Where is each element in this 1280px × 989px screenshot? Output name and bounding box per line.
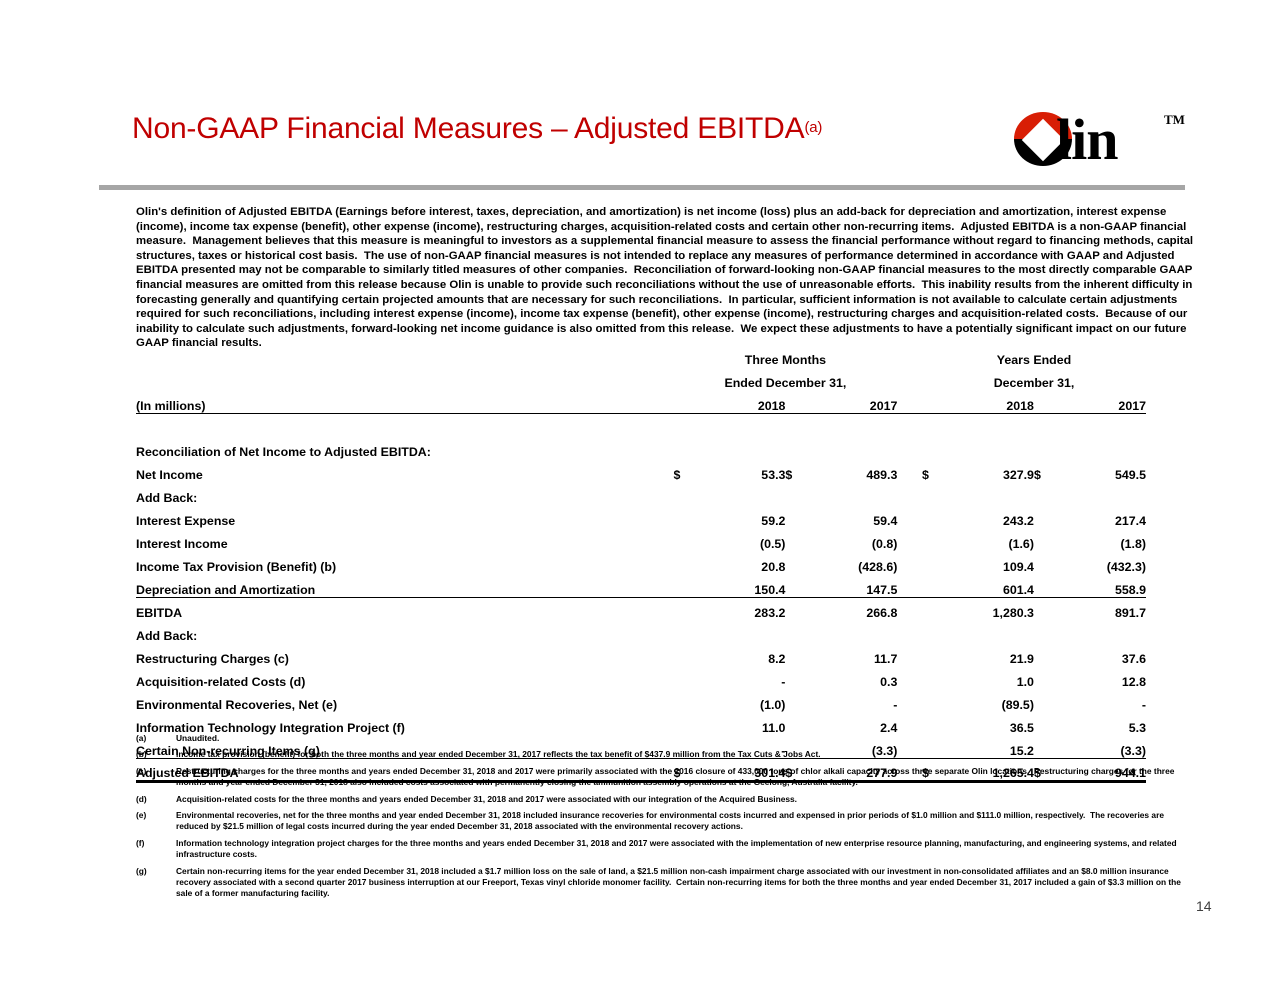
spacer-cell	[136, 413, 1146, 436]
row-value: 109.4	[947, 551, 1034, 574]
currency-symbol	[922, 620, 947, 643]
row-value: (432.3)	[1059, 551, 1146, 574]
column-gap	[897, 712, 922, 735]
row-value: 2.4	[810, 712, 897, 735]
column-gap	[897, 689, 922, 712]
currency-symbol	[673, 712, 698, 735]
row-value: (89.5)	[947, 689, 1034, 712]
footnote-item: (a)Unaudited.	[136, 733, 1196, 744]
footnote-marker: (g)	[136, 866, 176, 900]
header-gap-3	[897, 390, 922, 413]
row-value: 12.8	[1059, 666, 1146, 689]
footnote-item: (b)Income tax provision (benefit) for bo…	[136, 749, 1196, 760]
table-row: Environmental Recoveries, Net (e)(1.0)-(…	[136, 689, 1146, 712]
row-value: 243.2	[947, 505, 1034, 528]
olin-logo: lin TM	[1014, 108, 1194, 170]
header-cur-1	[673, 390, 698, 413]
currency-symbol	[1034, 482, 1059, 505]
table-spacer-row	[136, 413, 1146, 436]
header-divider	[99, 185, 1185, 190]
currency-symbol	[785, 643, 810, 666]
row-value: 11.0	[698, 712, 785, 735]
page-number: 14	[1196, 898, 1212, 914]
row-value: 1.0	[947, 666, 1034, 689]
row-value: 891.7	[1059, 597, 1146, 620]
row-value: (1.8)	[1059, 528, 1146, 551]
column-gap	[897, 666, 922, 689]
footnote-text: Income tax provision (benefit) for both …	[176, 749, 1196, 760]
table-row: Restructuring Charges (c)8.211.721.937.6	[136, 643, 1146, 666]
header-cur-4	[1034, 390, 1059, 413]
row-value: 59.4	[810, 505, 897, 528]
currency-symbol	[1034, 666, 1059, 689]
row-value: 59.2	[698, 505, 785, 528]
table-row: Information Technology Integration Proje…	[136, 712, 1146, 735]
header-cur-3	[922, 390, 947, 413]
table-row: Acquisition-related Costs (d)-0.31.012.8	[136, 666, 1146, 689]
row-label: EBITDA	[136, 597, 673, 620]
currency-symbol	[1034, 528, 1059, 551]
footnote-text: Unaudited.	[176, 733, 1196, 744]
adjusted-ebitda-table: Three Months Years Ended Ended December …	[136, 344, 1146, 783]
page-title: Non-GAAP Financial Measures – Adjusted E…	[132, 112, 822, 146]
currency-symbol	[673, 643, 698, 666]
currency-symbol	[785, 482, 810, 505]
currency-symbol	[1034, 620, 1059, 643]
table-section-title-row: Reconciliation of Net Income to Adjusted…	[136, 436, 1146, 459]
row-value: 601.4	[947, 574, 1034, 597]
row-value: (1.6)	[947, 528, 1034, 551]
currency-symbol	[673, 505, 698, 528]
column-header-year-y-2017: 2017	[1059, 390, 1146, 413]
currency-symbol	[785, 528, 810, 551]
table-header-years: (In millions) 2018 2017 2018 2017	[136, 390, 1146, 413]
column-gap	[897, 620, 922, 643]
row-value: -	[810, 689, 897, 712]
footnote-item: (c)Restructuring charges for the three m…	[136, 766, 1196, 789]
footnote-marker: (a)	[136, 733, 176, 744]
row-label: Interest Expense	[136, 505, 673, 528]
row-value: 283.2	[698, 597, 785, 620]
row-value	[698, 620, 785, 643]
header-gap-1	[897, 344, 922, 367]
row-value: (0.8)	[810, 528, 897, 551]
row-value: 37.6	[1059, 643, 1146, 666]
currency-symbol: $	[922, 459, 947, 482]
column-gap	[897, 643, 922, 666]
footnote-text: Environmental recoveries, net for the th…	[176, 810, 1196, 833]
units-label: (In millions)	[136, 390, 673, 413]
footnote-marker: (b)	[136, 749, 176, 760]
currency-symbol	[922, 551, 947, 574]
row-value: 266.8	[810, 597, 897, 620]
row-value: 36.5	[947, 712, 1034, 735]
row-value	[698, 482, 785, 505]
table-head: Three Months Years Ended Ended December …	[136, 344, 1146, 413]
currency-symbol	[922, 574, 947, 597]
header-blank-1	[136, 344, 673, 367]
footnote-marker: (c)	[136, 766, 176, 789]
currency-symbol	[922, 482, 947, 505]
currency-symbol	[922, 643, 947, 666]
header-blank-2	[136, 367, 673, 390]
column-gap	[897, 528, 922, 551]
column-gap	[897, 459, 922, 482]
header-group-years-ended-line1: Years Ended	[922, 344, 1146, 367]
row-value: (428.6)	[810, 551, 897, 574]
header-group-three-months-line1: Three Months	[673, 344, 897, 367]
column-gap	[897, 482, 922, 505]
currency-symbol	[785, 666, 810, 689]
column-gap	[897, 551, 922, 574]
currency-symbol	[673, 620, 698, 643]
row-value	[947, 620, 1034, 643]
row-value: 549.5	[1059, 459, 1146, 482]
header-group-three-months-line2: Ended December 31,	[673, 367, 897, 390]
header-cur-2	[785, 390, 810, 413]
footnote-item: (f)Information technology integration pr…	[136, 838, 1196, 861]
currency-symbol	[1034, 597, 1059, 620]
row-label: Add Back:	[136, 620, 673, 643]
row-value: (1.0)	[698, 689, 785, 712]
row-value: 11.7	[810, 643, 897, 666]
row-value: 0.3	[810, 666, 897, 689]
table-row: Interest Income(0.5)(0.8)(1.6)(1.8)	[136, 528, 1146, 551]
column-gap	[897, 505, 922, 528]
footnote-marker: (e)	[136, 810, 176, 833]
row-label: Restructuring Charges (c)	[136, 643, 673, 666]
intro-paragraph: Olin's definition of Adjusted EBITDA (Ea…	[136, 205, 1196, 351]
row-value: 150.4	[698, 574, 785, 597]
currency-symbol	[922, 666, 947, 689]
currency-symbol	[785, 689, 810, 712]
row-value: 20.8	[698, 551, 785, 574]
currency-symbol	[673, 551, 698, 574]
column-gap	[897, 574, 922, 597]
row-value	[1059, 482, 1146, 505]
currency-symbol	[673, 482, 698, 505]
row-value: 147.5	[810, 574, 897, 597]
currency-symbol	[922, 528, 947, 551]
table-row: EBITDA283.2266.81,280.3891.7	[136, 597, 1146, 620]
row-label: Net Income	[136, 459, 673, 482]
currency-symbol	[1034, 712, 1059, 735]
table-header-group-line1: Three Months Years Ended	[136, 344, 1146, 367]
footnote-marker: (d)	[136, 794, 176, 805]
currency-symbol: $	[673, 459, 698, 482]
row-value: 327.9	[947, 459, 1034, 482]
footnote-text: Acquisition-related costs for the three …	[176, 794, 1196, 805]
footnote-item: (g)Certain non-recurring items for the y…	[136, 866, 1196, 900]
table-row: Depreciation and Amortization150.4147.56…	[136, 574, 1146, 597]
currency-symbol	[673, 597, 698, 620]
page-title-text: Non-GAAP Financial Measures – Adjusted E…	[132, 112, 804, 145]
column-gap	[897, 597, 922, 620]
row-value	[810, 482, 897, 505]
currency-symbol	[673, 574, 698, 597]
currency-symbol	[785, 505, 810, 528]
row-value	[810, 620, 897, 643]
row-label: Add Back:	[136, 482, 673, 505]
currency-symbol	[785, 620, 810, 643]
row-value: 5.3	[1059, 712, 1146, 735]
header-group-years-ended-line2: December 31,	[922, 367, 1146, 390]
row-value: 21.9	[947, 643, 1034, 666]
row-label: Acquisition-related Costs (d)	[136, 666, 673, 689]
currency-symbol	[1034, 689, 1059, 712]
table-header-group-line2: Ended December 31, December 31,	[136, 367, 1146, 390]
footnote-item: (d)Acquisition-related costs for the thr…	[136, 794, 1196, 805]
row-label: Income Tax Provision (Benefit) (b)	[136, 551, 673, 574]
row-value: 558.9	[1059, 574, 1146, 597]
currency-symbol	[922, 712, 947, 735]
row-label: Environmental Recoveries, Net (e)	[136, 689, 673, 712]
table-body: Reconciliation of Net Income to Adjusted…	[136, 413, 1146, 781]
table-row: Add Back:	[136, 620, 1146, 643]
currency-symbol	[922, 689, 947, 712]
table-row: Income Tax Provision (Benefit) (b)20.8(4…	[136, 551, 1146, 574]
footnote-text: Information technology integration proje…	[176, 838, 1196, 861]
olin-logo-wordmark: lin	[1056, 106, 1118, 173]
currency-symbol: $	[1034, 459, 1059, 482]
currency-symbol	[1034, 505, 1059, 528]
column-header-year-q-2018: 2018	[698, 390, 785, 413]
currency-symbol	[673, 689, 698, 712]
table-row: Add Back:	[136, 482, 1146, 505]
currency-symbol	[673, 528, 698, 551]
footnote-text: Certain non-recurring items for the year…	[176, 866, 1196, 900]
currency-symbol	[785, 551, 810, 574]
table-row: Net Income$53.3$489.3$327.9$549.5	[136, 459, 1146, 482]
row-label: Depreciation and Amortization	[136, 574, 673, 597]
currency-symbol	[785, 597, 810, 620]
column-header-year-q-2017: 2017	[810, 390, 897, 413]
row-label: Information Technology Integration Proje…	[136, 712, 673, 735]
currency-symbol	[1034, 574, 1059, 597]
currency-symbol	[673, 666, 698, 689]
footnote-marker: (f)	[136, 838, 176, 861]
footnotes-list: (a)Unaudited.(b)Income tax provision (be…	[136, 733, 1196, 905]
header-gap-2	[897, 367, 922, 390]
row-value: 53.3	[698, 459, 785, 482]
currency-symbol	[785, 574, 810, 597]
trademark-symbol: TM	[1164, 112, 1185, 128]
footnote-text: Restructuring charges for the three mont…	[176, 766, 1196, 789]
currency-symbol	[785, 712, 810, 735]
table-row: Interest Expense59.259.4243.2217.4	[136, 505, 1146, 528]
row-value: -	[1059, 689, 1146, 712]
page-title-footnote-marker: (a)	[804, 119, 822, 136]
column-header-year-y-2018: 2018	[947, 390, 1034, 413]
footnote-item: (e)Environmental recoveries, net for the…	[136, 810, 1196, 833]
table-section-title: Reconciliation of Net Income to Adjusted…	[136, 436, 1146, 459]
row-value: 1,280.3	[947, 597, 1034, 620]
currency-symbol	[922, 505, 947, 528]
row-value	[1059, 620, 1146, 643]
currency-symbol	[1034, 643, 1059, 666]
currency-symbol	[1034, 551, 1059, 574]
row-value: -	[698, 666, 785, 689]
row-label: Interest Income	[136, 528, 673, 551]
row-value: 489.3	[810, 459, 897, 482]
currency-symbol: $	[785, 459, 810, 482]
row-value: 217.4	[1059, 505, 1146, 528]
row-value: (0.5)	[698, 528, 785, 551]
row-value: 8.2	[698, 643, 785, 666]
currency-symbol	[922, 597, 947, 620]
row-value	[947, 482, 1034, 505]
